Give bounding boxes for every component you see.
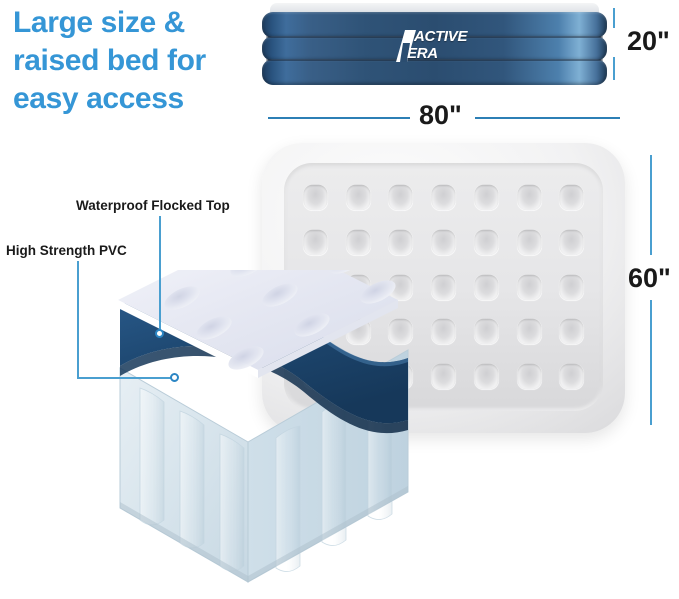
dimension-line-length [475,117,620,119]
dimension-label-height: 20" [627,26,670,57]
dimension-line-length [268,117,410,119]
mattress-dimple [474,185,498,210]
callout-label-flocked-top: Waterproof Flocked Top [76,198,230,213]
callout-label-high-strength-pvc: High Strength PVC [6,243,127,258]
mattress-dimple [517,185,541,210]
dimension-label-length: 80" [419,100,462,131]
mattress-dimple [346,230,370,255]
dimension-line-width [650,155,652,255]
callout-leader-line-pvc [77,377,174,379]
mattress-dimple [517,230,541,255]
mattress-layer-cutaway [108,270,468,599]
headline-line-1: Large size & [13,4,263,42]
mattress-dimple [303,230,327,255]
brand-name-line-2: ERA [407,45,467,62]
mattress-dimple [517,319,541,344]
mattress-dimple [389,185,413,210]
mattress-dimple [303,185,327,210]
mattress-dimple [560,274,584,299]
brand-name-line-1: ACTIVE [414,28,467,45]
mattress-dimple [431,230,455,255]
mattress-dimple [560,230,584,255]
mattress-dimple [560,364,584,389]
mattress-dimple [431,185,455,210]
callout-leader-line-pvc [77,261,79,379]
page-title: Large size & raised bed for easy access [13,4,263,118]
dimension-label-width: 60" [628,263,671,294]
dimension-line-width [650,300,652,425]
mattress-dimple [560,319,584,344]
mattress-dimple [474,319,498,344]
dimension-line-height [613,8,615,28]
mattress-dimple [474,230,498,255]
mattress-dimple [474,274,498,299]
mattress-dimple [517,274,541,299]
mattress-dimple [560,185,584,210]
product-infographic: Large size & raised bed for easy access … [0,0,679,599]
headline-line-3: easy access [13,80,263,118]
callout-endpoint-flocked-top [155,329,164,338]
mattress-dimple [474,364,498,389]
headline-line-2: raised bed for [13,42,263,80]
dimension-line-height [613,57,615,80]
mattress-dimple [389,230,413,255]
callout-endpoint-pvc [170,373,179,382]
brand-logo: ACTIVE ERA [396,28,492,64]
brand-wordmark: ACTIVE ERA [414,28,467,62]
mattress-dimple [517,364,541,389]
mattress-dimple [346,185,370,210]
callout-leader-line-flocked-top [159,216,161,332]
